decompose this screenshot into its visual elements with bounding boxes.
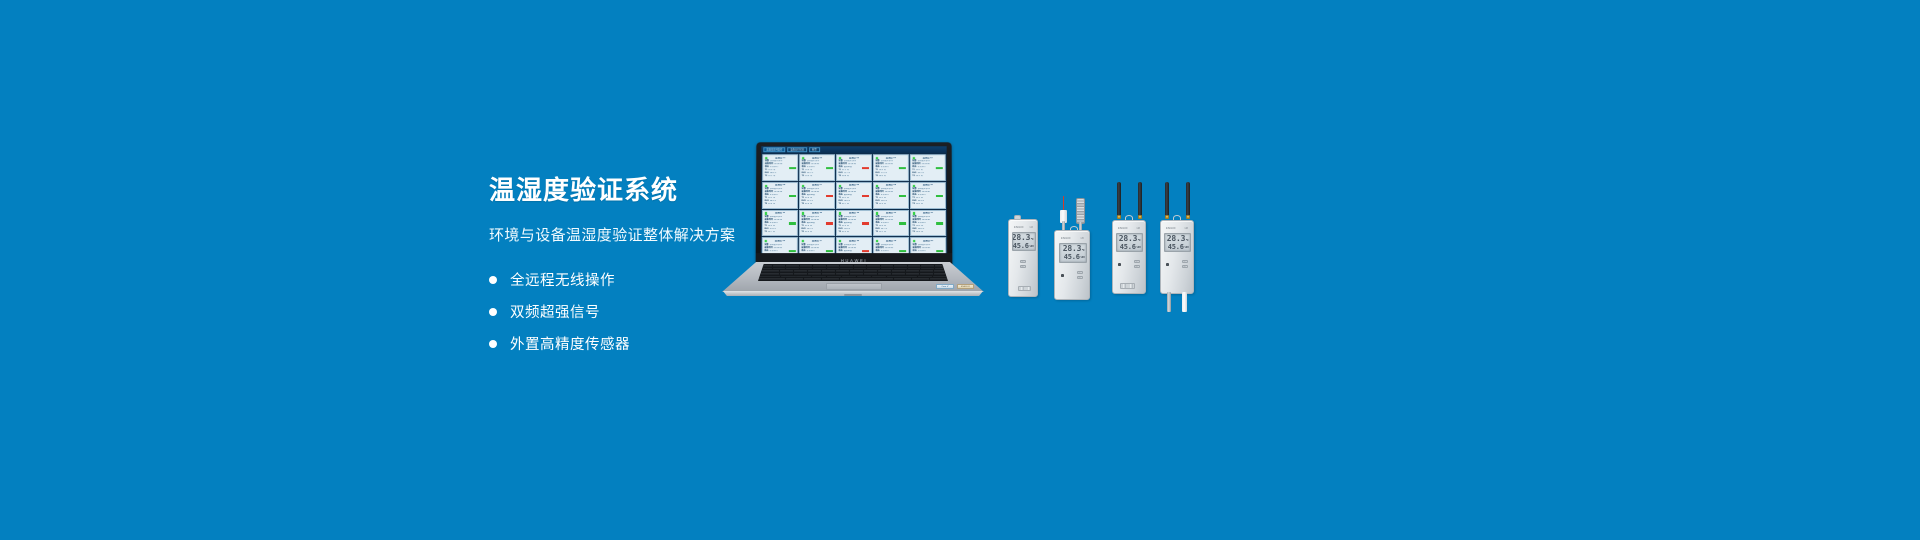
device-card-field-key: T2 (839, 175, 841, 178)
device-card-field: T230.8 ℃ (839, 175, 870, 178)
device-1-housing: ENGIN H3 28.3 ℃ 45.6 %RH SET REC (1008, 219, 1038, 297)
device-4-temperature-unit: ℃ (1186, 239, 1189, 244)
device-4-humidity-value: 45.6 (1168, 244, 1184, 252)
alarm-status-bar (825, 222, 832, 224)
device-card-rows: 设备温湿度记录仪采集时间10:28:36状态正常运行T125.4 ℃RH148.… (875, 216, 906, 234)
keyboard-key[interactable] (887, 276, 901, 278)
ok-status-bar (900, 222, 907, 224)
device-4-status-led (1166, 263, 1169, 266)
ok-status-bar (936, 195, 943, 197)
device-card[interactable]: 监测点 20设备温湿度记录仪采集时间10:28:36状态正常运行T125.3 ℃… (910, 238, 946, 254)
device-card[interactable]: 监测点 17设备温湿度记录仪采集时间10:28:36状态正常运行T125.7 ℃… (799, 238, 835, 254)
device-2-probe-logger: ENGIN H5 28.3 ℃ 45.6 %RH SET REC (1054, 196, 1100, 304)
device-2-housing: ENGIN H5 28.3 ℃ 45.6 %RH SET REC (1054, 230, 1090, 300)
device-card-field-value: 25.3 ℃ (879, 203, 886, 206)
device-2-status-led (1061, 274, 1064, 277)
device-card-title: 监测点 19 (876, 240, 907, 243)
device-1-humidity-value: 45.6 (1013, 243, 1029, 251)
device-3-humidity-reading: 45.6 %RH (1119, 244, 1141, 252)
keyboard-key[interactable] (854, 265, 867, 267)
device-card-field-value: 24.7 ℃ (768, 231, 775, 234)
keyboard-key[interactable] (881, 265, 894, 267)
device-card-field-value: 25.0 ℃ (768, 203, 775, 206)
keyboard-row (759, 278, 947, 280)
ok-status-bar (789, 195, 796, 197)
device-card[interactable]: 监测点 15设备温湿度记录仪采集时间10:28:36状态正常运行T125.0 ℃… (910, 210, 946, 237)
device-card[interactable]: 监测点 04设备温湿度记录仪采集时间10:28:36状态正常运行T124.8 ℃… (873, 154, 909, 180)
keyboard-key[interactable] (794, 270, 807, 272)
device-card-rows: 设备温湿度记录仪采集时间10:28:36状态超限报警T132.9 ℃RH155.… (838, 216, 869, 234)
laptop-screen: 温湿度实时监控 设备运行状态 报警 监测点 01设备温湿度记录仪采集时间10:2… (761, 146, 948, 253)
device-card[interactable]: 监测点 05设备温湿度记录仪采集时间10:28:36状态正常运行T125.0 ℃… (910, 154, 946, 180)
device-card-field-value: 25.1 ℃ (768, 175, 775, 178)
device-card-field-key: T2 (875, 175, 877, 178)
keyboard-key[interactable] (822, 273, 835, 275)
device-card-field-key: T2 (764, 231, 766, 234)
keyboard-key[interactable] (854, 268, 867, 270)
laptop-lid: 温湿度实时监控 设备运行状态 报警 监测点 01设备温湿度记录仪采集时间10:2… (756, 142, 953, 267)
keyboard-key[interactable] (813, 268, 826, 270)
device-3-sensor-vent (1120, 283, 1135, 289)
monitoring-dashboard: 温湿度实时监控 设备运行状态 报警 监测点 01设备温湿度记录仪采集时间10:2… (761, 146, 948, 253)
device-card-field: T224.6 ℃ (875, 175, 906, 178)
keyboard-key[interactable] (921, 268, 934, 270)
device-card-title: 监测点 16 (764, 240, 795, 243)
device-card-title: 监测点 10 (912, 184, 943, 187)
keyboard-key[interactable] (875, 278, 892, 280)
device-card[interactable]: 监测点 14设备温湿度记录仪采集时间10:28:36状态正常运行T125.4 ℃… (873, 210, 909, 237)
device-3-antenna-right (1138, 182, 1142, 218)
keyboard-key[interactable] (781, 276, 795, 278)
keyboard-row (759, 273, 947, 275)
device-2-set-button[interactable]: SET (1077, 271, 1083, 274)
device-2-lcd-display: 28.3 ℃ 45.6 %RH (1059, 243, 1087, 263)
device-1-humidity-reading: 45.6 %RH (1015, 243, 1034, 251)
keyboard-row (759, 276, 947, 278)
device-card-field: T225.3 ℃ (875, 203, 906, 206)
device-4-dual-antenna-probe-logger: ENGIN H8 28.3 ℃ 45.6 %RH SET REC (1158, 182, 1206, 314)
device-card-status-led (876, 212, 878, 214)
device-1-humidity-unit: %RH (1029, 245, 1033, 250)
keyboard-key[interactable] (850, 270, 863, 272)
keyboard-key[interactable] (794, 273, 807, 275)
device-card-field-value: 24.8 ℃ (916, 231, 923, 234)
device-card-title: 监测点 11 (765, 212, 796, 215)
keyboard-key[interactable] (894, 265, 907, 267)
keyboard-row (759, 270, 947, 272)
device-card-grid: 监测点 01设备温湿度记录仪采集时间10:28:36状态正常运行T125.3 ℃… (761, 153, 948, 253)
device-card-rows: 设备温湿度记录仪采集时间10:28:36状态正常运行T124.7 ℃RH147.… (876, 244, 907, 253)
ok-status-bar (900, 250, 907, 252)
device-card-title: 监测点 13 (838, 212, 869, 215)
device-card-title: 监测点 05 (912, 157, 943, 160)
device-card-status-led (802, 157, 804, 159)
device-card-title: 监测点 08 (839, 184, 870, 187)
device-1-rec-button[interactable]: REC (1020, 265, 1026, 268)
device-card-field: T232.0 ℃ (802, 203, 833, 206)
keyboard-key[interactable] (918, 276, 932, 278)
device-card-rows: 设备温湿度记录仪采集时间10:28:36状态超限报警T131.2 ℃RH152.… (839, 161, 870, 179)
keyboard-key[interactable] (822, 278, 839, 280)
keyboard-key[interactable] (822, 270, 835, 272)
device-card-field-key: T2 (838, 203, 840, 206)
device-card-status-led (839, 212, 841, 214)
device-card-title: 监测点 15 (912, 212, 943, 215)
device-3-humidity-value: 45.6 (1120, 244, 1136, 252)
device-2-button-pair[interactable]: SET REC (1077, 271, 1083, 279)
device-card-status-led (876, 157, 878, 159)
device-card-rows: 设备温湿度记录仪采集时间10:28:36状态正常运行T125.7 ℃RH149.… (801, 244, 832, 253)
device-card-status-led (913, 185, 915, 187)
device-card-status-led (802, 185, 804, 187)
alarm-status-bar (863, 250, 870, 252)
device-card-field-value: 24.9 ℃ (916, 175, 923, 178)
device-3-antenna-left (1117, 182, 1121, 218)
keyboard-key[interactable] (906, 270, 919, 272)
device-card-title: 监测点 18 (838, 240, 869, 243)
device-3-housing: ENGIN H8 28.3 ℃ 45.6 %RH SET REC (1112, 220, 1146, 294)
device-card-title: 监测点 17 (801, 240, 832, 243)
device-2-humidity-value: 45.6 (1064, 254, 1080, 262)
device-card-rows: 设备温湿度记录仪采集时间10:28:36状态超限报警T131.8 ℃RH154.… (801, 216, 832, 234)
keyboard-key[interactable] (759, 276, 780, 278)
device-1-set-button[interactable]: SET (1020, 260, 1026, 263)
ok-status-bar (899, 195, 906, 197)
ok-status-bar (788, 250, 795, 252)
device-4-humidity-unit: %RH (1184, 246, 1188, 251)
device-card-field: T224.8 ℃ (913, 231, 944, 234)
device-card[interactable]: 监测点 11设备温湿度记录仪采集时间10:28:36状态正常运行T124.9 ℃… (762, 210, 798, 237)
device-3-brand-label: ENGIN (1118, 227, 1128, 230)
keyboard-key[interactable] (857, 276, 871, 278)
alarm-status-bar (826, 195, 833, 197)
keyboard-key[interactable] (759, 270, 779, 272)
keyboard-key[interactable] (934, 273, 947, 275)
device-2-model-label: H5 (1081, 237, 1084, 240)
device-3-sma-connector-right (1138, 215, 1142, 219)
device-card[interactable]: 监测点 12设备温湿度记录仪采集时间10:28:36状态超限报警T131.8 ℃… (799, 210, 835, 237)
device-card[interactable]: 监测点 03设备温湿度记录仪采集时间10:28:36状态超限报警T131.2 ℃… (836, 154, 872, 180)
device-card-status-led (876, 240, 878, 242)
device-card-field-key: T2 (802, 203, 804, 206)
feature-label: 双频超强信号 (510, 301, 600, 322)
device-card-rows: 设备温湿度记录仪采集时间10:28:36状态正常运行T125.3 ℃RH148.… (765, 161, 796, 179)
device-4-brand-label: ENGIN (1166, 227, 1176, 230)
device-card-field: T225.1 ℃ (765, 175, 796, 178)
device-card-field-value: 30.8 ℃ (842, 175, 849, 178)
device-card-field: T225.0 ℃ (765, 203, 796, 206)
device-1-brand-label: ENGIN (1014, 226, 1024, 229)
device-card-field-key: T2 (801, 231, 803, 234)
keyboard-key[interactable] (840, 278, 874, 280)
ok-status-bar (788, 222, 795, 224)
device-4-antenna-left (1165, 182, 1169, 218)
device-1-temperature-unit: ℃ (1031, 238, 1034, 243)
device-card-field-key: T2 (765, 175, 767, 178)
keyboard-key[interactable] (800, 265, 813, 267)
device-card-status-led (839, 185, 841, 187)
device-card-rows: 设备温湿度记录仪采集时间10:28:36状态正常运行T125.0 ℃RH148.… (912, 161, 943, 179)
device-card-field: T225.4 ℃ (802, 175, 833, 178)
device-card-rows: 设备温湿度记录仪采集时间10:28:36状态正常运行T125.0 ℃RH148.… (912, 216, 943, 234)
alarm-status-bar (862, 167, 869, 169)
device-card-field-key: T2 (913, 231, 915, 234)
dashboard-tab-bar: 温湿度实时监控 设备运行状态 报警 (761, 146, 946, 153)
device-card-rows: 设备温湿度记录仪采集时间10:28:36状态超限报警T132.2 ℃RH154.… (838, 244, 869, 253)
device-card-field-value: 24.6 ℃ (879, 175, 886, 178)
device-4-probe-stem-left (1167, 292, 1171, 312)
keyboard-key[interactable] (920, 270, 933, 272)
device-card[interactable]: 监测点 13设备温湿度记录仪采集时间10:28:36状态超限报警T132.9 ℃… (836, 210, 872, 237)
device-card-rows: 设备温湿度记录仪采集时间10:28:36状态正常运行T125.2 ℃RH148.… (764, 244, 795, 253)
device-card[interactable]: 监测点 06设备温湿度记录仪采集时间10:28:36状态正常运行T125.2 ℃… (762, 182, 798, 209)
keyboard-key[interactable] (813, 265, 826, 267)
device-card-field: T224.9 ℃ (912, 175, 943, 178)
device-card-status-led (765, 157, 767, 159)
bullet-dot-icon (489, 276, 497, 284)
device-4-lcd-display: 28.3 ℃ 45.6 %RH (1164, 233, 1191, 252)
keyboard-key[interactable] (808, 270, 821, 272)
device-1-button-pair[interactable]: SET REC (1020, 260, 1026, 268)
device-card-field-key: T2 (802, 175, 804, 178)
feature-label: 外置高精度传感器 (510, 333, 630, 354)
device-4-probe-stem-right (1182, 292, 1187, 312)
keyboard-key[interactable] (786, 268, 799, 270)
device-card-rows: 设备温湿度记录仪采集时间10:28:36状态正常运行T124.9 ℃RH147.… (764, 216, 795, 234)
device-card-field-key: T2 (875, 203, 877, 206)
device-card[interactable]: 监测点 10设备温湿度记录仪采集时间10:28:36状态正常运行T125.1 ℃… (910, 182, 946, 209)
device-card-title: 监测点 07 (802, 184, 833, 187)
device-3-humidity-unit: %RH (1136, 246, 1140, 251)
device-2-rec-button[interactable]: REC (1077, 276, 1083, 279)
product-banner: 温湿度验证系统 环境与设备温湿度验证整体解决方案 全远程无线操作 双频超强信号 … (0, 0, 1920, 540)
device-card-field-value: 32.5 ℃ (842, 231, 849, 234)
keyboard-key[interactable] (836, 273, 849, 275)
device-card-field-key: T2 (838, 231, 840, 234)
device-card-rows: 设备温湿度记录仪采集时间10:28:36状态正常运行T125.2 ℃RH148.… (765, 188, 796, 206)
keyboard-key[interactable] (908, 268, 921, 270)
keyboard-key[interactable] (842, 276, 856, 278)
device-card-status-led (913, 212, 915, 214)
device-2-temperature-unit: ℃ (1082, 249, 1085, 254)
device-card-title: 监测点 02 (802, 157, 833, 160)
device-2-humidity-reading: 45.6 %RH (1062, 254, 1085, 262)
keyboard-key[interactable] (773, 265, 786, 267)
keyboard-row (759, 268, 947, 270)
device-3-model-label: H8 (1137, 227, 1140, 230)
device-3-button-pair[interactable]: SET REC (1134, 260, 1140, 268)
keyboard-key[interactable] (892, 270, 905, 272)
ok-status-bar (936, 167, 943, 169)
device-card-field-value: 31.4 ℃ (805, 231, 812, 234)
device-card-rows: 设备温湿度记录仪采集时间10:28:36状态正常运行T125.3 ℃RH148.… (913, 244, 944, 253)
keyboard-key[interactable] (808, 273, 821, 275)
keyboard-key[interactable] (864, 273, 877, 275)
device-card-rows: 设备温湿度记录仪采集时间10:28:36状态正常运行T125.1 ℃RH148.… (912, 188, 943, 206)
keyboard-key[interactable] (827, 268, 840, 270)
device-card-title: 监测点 20 (913, 240, 944, 243)
device-3-dual-antenna-logger: ENGIN H8 28.3 ℃ 45.6 %RH SET REC (1110, 182, 1156, 298)
ok-status-bar (826, 167, 833, 169)
device-card-field: T225.2 ℃ (875, 231, 906, 234)
device-4-sma-connector-right (1186, 215, 1190, 219)
energy-sticker: ENERGY (957, 284, 974, 289)
device-card[interactable]: 监测点 07设备温湿度记录仪采集时间10:28:36状态超限报警T132.4 ℃… (799, 182, 835, 209)
keyboard-key[interactable] (786, 265, 799, 267)
keyboard-key[interactable] (864, 270, 877, 272)
keyboard-key[interactable] (930, 278, 947, 280)
device-2-humidity-probe-head (1076, 198, 1085, 224)
device-card-status-led (913, 240, 915, 242)
keyboard-key[interactable] (878, 270, 891, 272)
device-card-status-led (912, 157, 914, 159)
device-card-title: 监测点 09 (875, 184, 906, 187)
keyboard-key[interactable] (920, 273, 933, 275)
keyboard-key[interactable] (827, 265, 840, 267)
keyboard-key[interactable] (892, 273, 905, 275)
device-card-rows: 设备温湿度记录仪采集时间10:28:36状态正常运行T124.8 ℃RH147.… (875, 161, 906, 179)
device-card-field: T232.7 ℃ (838, 203, 869, 206)
device-1-model-label: H3 (1030, 226, 1033, 229)
device-3-status-led (1118, 263, 1121, 266)
device-card-title: 监测点 12 (801, 212, 832, 215)
keyboard-key[interactable] (867, 265, 880, 267)
device-4-humidity-reading: 45.6 %RH (1167, 244, 1189, 252)
keyboard-key[interactable] (827, 276, 841, 278)
device-card-field-value: 25.2 ℃ (879, 231, 886, 234)
device-card-field: T224.7 ℃ (764, 231, 795, 234)
device-card-status-led (765, 212, 767, 214)
device-card-field-value: 32.7 ℃ (842, 203, 849, 206)
device-4-housing: ENGIN H8 28.3 ℃ 45.6 %RH SET REC (1160, 220, 1194, 294)
device-card[interactable]: 监测点 01设备温湿度记录仪采集时间10:28:36状态正常运行T125.3 ℃… (762, 154, 798, 180)
device-card-rows: 设备温湿度记录仪采集时间10:28:36状态超限报警T133.1 ℃RH156.… (838, 188, 869, 206)
device-4-set-button[interactable]: SET (1182, 260, 1188, 263)
device-card-field-key: T2 (912, 203, 914, 206)
device-card[interactable]: 监测点 16设备温湿度记录仪采集时间10:28:36状态正常运行T125.2 ℃… (762, 238, 798, 254)
ok-status-bar (899, 167, 906, 169)
device-card-field-value: 25.4 ℃ (805, 175, 812, 178)
device-card-field: T225.0 ℃ (912, 203, 943, 206)
device-card-rows: 设备温湿度记录仪采集时间10:28:36状态正常运行T125.5 ℃RH149.… (875, 188, 906, 206)
keyboard-key[interactable] (796, 276, 810, 278)
tab-alarm[interactable]: 报警 (809, 147, 820, 152)
keyboard-key[interactable] (759, 273, 779, 275)
keyboard-key[interactable] (850, 273, 863, 275)
laptop-base: Core i7 ENERGY (722, 262, 984, 298)
device-card-status-led (839, 240, 841, 242)
device-2-brand-label: ENGIN (1061, 237, 1071, 240)
device-card-title: 监测点 03 (839, 157, 870, 160)
alarm-status-bar (862, 222, 869, 224)
feature-label: 全远程无线操作 (510, 269, 615, 290)
device-card-field-value: 25.0 ℃ (916, 203, 923, 206)
device-card-status-led (802, 212, 804, 214)
keyboard-key[interactable] (894, 268, 907, 270)
keyboard-key[interactable] (786, 278, 803, 280)
keyboard-key[interactable] (780, 273, 793, 275)
bullet-dot-icon (489, 308, 497, 316)
keyboard-key[interactable] (836, 270, 849, 272)
device-4-antenna-right (1186, 182, 1190, 218)
device-3-lcd-display: 28.3 ℃ 45.6 %RH (1116, 233, 1143, 252)
device-card[interactable]: 监测点 02设备温湿度记录仪采集时间10:28:36状态正常运行T125.6 ℃… (799, 154, 835, 180)
keyboard-key[interactable] (840, 268, 853, 270)
device-1-lcd-display: 28.3 ℃ 45.6 %RH (1012, 232, 1036, 251)
device-4-model-label: H8 (1185, 227, 1188, 230)
device-card-title: 监测点 01 (765, 157, 796, 160)
device-4-button-pair[interactable]: SET REC (1182, 260, 1188, 268)
device-card[interactable]: 监测点 18设备温湿度记录仪采集时间10:28:36状态超限报警T132.2 ℃… (836, 238, 872, 254)
alarm-status-bar (862, 195, 869, 197)
tab-device-status[interactable]: 设备运行状态 (787, 147, 807, 152)
keyboard-key[interactable] (800, 268, 813, 270)
ok-status-bar (825, 250, 832, 252)
device-card[interactable]: 监测点 09设备温湿度记录仪采集时间10:28:36状态正常运行T125.5 ℃… (873, 182, 909, 209)
device-card-rows: 设备温湿度记录仪采集时间10:28:36状态超限报警T132.4 ℃RH155.… (802, 188, 833, 206)
device-card-status-led (765, 185, 767, 187)
keyboard-key[interactable] (933, 276, 947, 278)
device-card-title: 监测点 14 (875, 212, 906, 215)
ok-status-bar (789, 167, 796, 169)
device-3-rec-button[interactable]: REC (1134, 265, 1140, 268)
device-card-title: 监测点 06 (765, 184, 796, 187)
device-3-sma-connector-left (1117, 215, 1121, 219)
device-card-field: T231.4 ℃ (801, 231, 832, 234)
device-4-rec-button[interactable]: REC (1182, 265, 1188, 268)
keyboard-key[interactable] (881, 268, 894, 270)
device-card-field: T232.5 ℃ (838, 231, 869, 234)
keyboard-key[interactable] (872, 276, 886, 278)
keyboard-key[interactable] (908, 265, 921, 267)
keyboard-key[interactable] (906, 273, 919, 275)
device-card[interactable]: 监测点 08设备温湿度记录仪采集时间10:28:36状态超限报警T133.1 ℃… (836, 182, 872, 209)
keyboard-key[interactable] (804, 278, 821, 280)
keyboard-key[interactable] (759, 278, 785, 280)
device-card-rows: 设备温湿度记录仪采集时间10:28:36状态正常运行T125.6 ℃RH149.… (802, 161, 833, 179)
keyboard-key[interactable] (894, 278, 911, 280)
keyboard-key[interactable] (921, 265, 934, 267)
laptop-keyboard[interactable] (758, 264, 948, 281)
keyboard-key[interactable] (773, 268, 786, 270)
device-card-status-led (802, 240, 804, 242)
device-card-field-value: 32.0 ℃ (805, 203, 812, 206)
keyboard-key[interactable] (812, 276, 826, 278)
keyboard-key[interactable] (780, 270, 793, 272)
device-card-status-led (765, 240, 767, 242)
feature-list-item: 外置高精度传感器 (489, 328, 909, 360)
device-card-status-led (839, 157, 841, 159)
device-card-title: 监测点 04 (875, 157, 906, 160)
device-3-set-button[interactable]: SET (1134, 260, 1140, 263)
keyboard-key[interactable] (840, 265, 853, 267)
device-card-field-key: T2 (765, 203, 767, 206)
feature-list-item: 双频超强信号 (489, 296, 909, 328)
keyboard-key[interactable] (867, 268, 880, 270)
keyboard-key[interactable] (912, 278, 929, 280)
device-card[interactable]: 监测点 19设备温湿度记录仪采集时间10:28:36状态正常运行T124.7 ℃… (873, 238, 909, 254)
laptop-touchpad[interactable] (826, 283, 882, 290)
tab-realtime-monitor[interactable]: 温湿度实时监控 (763, 147, 785, 152)
device-1-sensor-vent (1018, 286, 1031, 291)
device-2-humidity-unit: %RH (1080, 256, 1084, 261)
keyboard-key[interactable] (902, 276, 916, 278)
keyboard-row (759, 265, 947, 267)
device-4-sma-connector-left (1165, 215, 1169, 219)
keyboard-key[interactable] (878, 273, 891, 275)
device-card-field-key: T2 (875, 231, 877, 234)
laptop-lid-notch (844, 294, 862, 295)
